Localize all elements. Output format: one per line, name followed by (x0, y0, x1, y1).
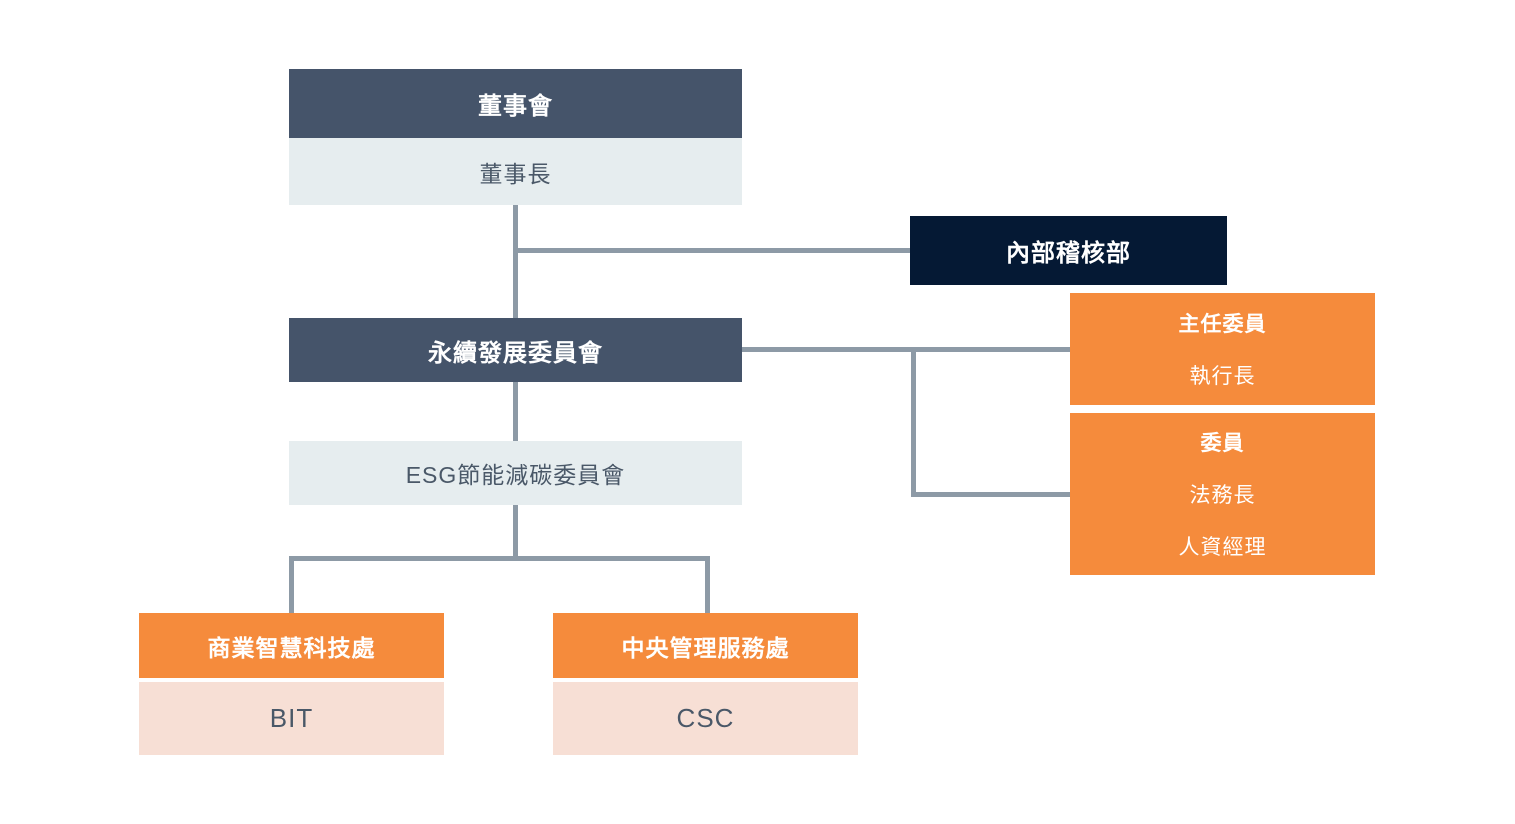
esg-committee-title: ESG節能減碳委員會 (289, 441, 742, 505)
internal-audit-title: 內部稽核部 (910, 216, 1227, 285)
node-business-intelligence-technology[interactable]: 商業智慧科技處 BIT (139, 613, 444, 755)
sustainability-committee-title: 永續發展委員會 (289, 318, 742, 382)
board-of-directors-title: 董事會 (289, 69, 742, 138)
node-central-service-center[interactable]: 中央管理服務處 CSC (553, 613, 858, 755)
member-role-primary: 委員 (1201, 427, 1245, 457)
connector-chair-to-member-vertical (911, 347, 916, 497)
connector-units-horizontal-bus (289, 556, 710, 561)
chair-role-primary: 主任委員 (1179, 308, 1267, 338)
node-member-roles[interactable]: 委員 法務長 人資經理 (1070, 413, 1375, 575)
connector-board-to-internal-audit-horizontal (513, 248, 912, 253)
node-board-of-directors[interactable]: 董事會 董事長 (289, 69, 742, 205)
connector-esg-down-vertical (513, 505, 518, 561)
org-chart-canvas: 董事會 董事長 內部稽核部 永續發展委員會 ESG節能減碳委員會 主任委員 執行… (0, 0, 1515, 824)
connector-to-member-horizontal (911, 492, 1072, 497)
connector-sustainability-to-chair-horizontal (742, 347, 1072, 352)
bit-unit-title: 商業智慧科技處 (139, 613, 444, 678)
connector-board-to-sustainability-vertical (513, 205, 518, 319)
connector-bus-to-bit-vertical (289, 556, 294, 614)
member-role-legal: 法務長 (1190, 479, 1256, 509)
connector-bus-to-csc-vertical (705, 556, 710, 614)
chair-role-secondary: 執行長 (1190, 360, 1256, 390)
node-esg-committee[interactable]: ESG節能減碳委員會 (289, 441, 742, 505)
node-sustainability-committee[interactable]: 永續發展委員會 (289, 318, 742, 382)
csc-unit-title: 中央管理服務處 (553, 613, 858, 678)
csc-unit-code: CSC (553, 682, 858, 755)
member-role-hr: 人資經理 (1179, 531, 1267, 561)
board-chairman-label: 董事長 (289, 138, 742, 205)
bit-unit-code: BIT (139, 682, 444, 755)
connector-sustainability-to-esg-vertical (513, 382, 518, 442)
node-internal-audit[interactable]: 內部稽核部 (910, 216, 1227, 285)
node-chair-roles[interactable]: 主任委員 執行長 (1070, 293, 1375, 405)
